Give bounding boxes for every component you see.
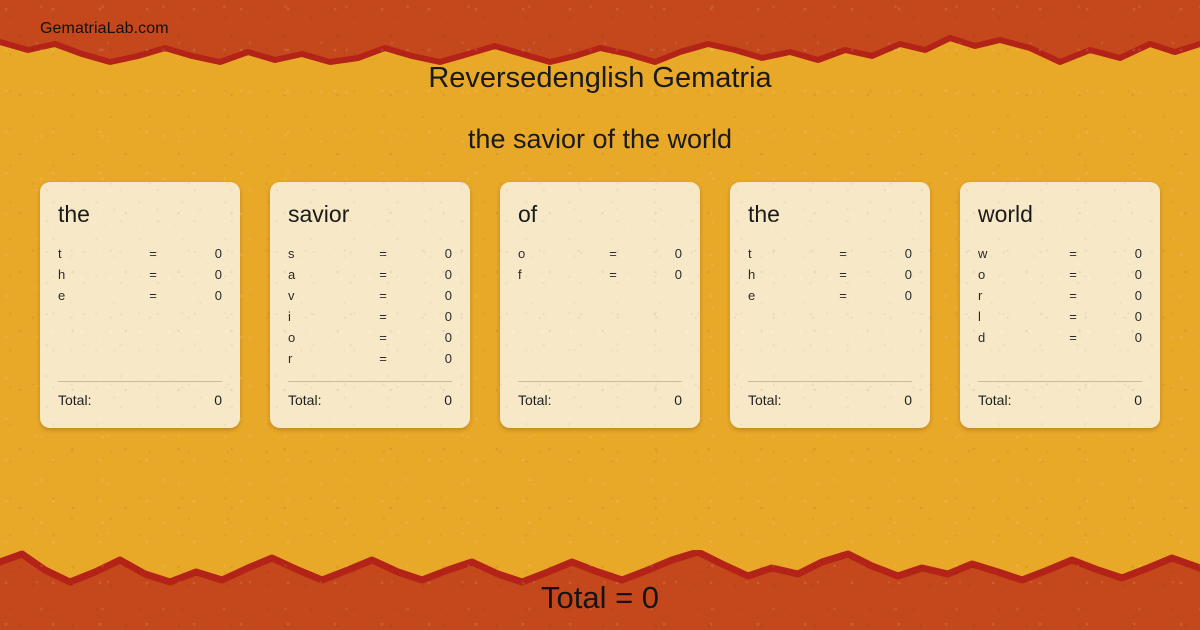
letter-rows: o=0f=0	[518, 246, 682, 288]
word-card: ofo=0f=0Total:0	[500, 182, 700, 428]
card-divider	[978, 381, 1142, 382]
letter-row: a=0	[288, 267, 452, 288]
letter-rows: t=0h=0e=0	[58, 246, 222, 309]
letter-label: r	[978, 288, 1060, 303]
equals-sign: =	[370, 267, 396, 282]
letter-row: f=0	[518, 267, 682, 288]
letter-value: 0	[1086, 330, 1142, 345]
equals-sign: =	[370, 309, 396, 324]
letter-value: 0	[626, 267, 682, 282]
equals-sign: =	[370, 330, 396, 345]
equals-sign: =	[830, 288, 856, 303]
letter-label: t	[58, 246, 140, 261]
card-total-value: 0	[674, 392, 682, 408]
card-divider	[288, 381, 452, 382]
card-total-value: 0	[214, 392, 222, 408]
word-card: worldw=0o=0r=0l=0d=0Total:0	[960, 182, 1160, 428]
letter-value: 0	[166, 246, 222, 261]
card-divider	[58, 381, 222, 382]
letter-label: h	[748, 267, 830, 282]
letter-label: s	[288, 246, 370, 261]
card-total-label: Total:	[978, 392, 1134, 408]
site-logo[interactable]: GematriaLab.com	[40, 20, 169, 38]
letter-value: 0	[856, 288, 912, 303]
letter-label: e	[748, 288, 830, 303]
card-word-title: the	[58, 200, 222, 234]
letter-rows: w=0o=0r=0l=0d=0	[978, 246, 1142, 351]
letter-value: 0	[166, 288, 222, 303]
letter-value: 0	[396, 309, 452, 324]
letter-value: 0	[396, 351, 452, 366]
card-total-row: Total:0	[748, 392, 912, 408]
card-divider	[518, 381, 682, 382]
letter-value: 0	[396, 330, 452, 345]
card-divider	[748, 381, 912, 382]
card-total-value: 0	[904, 392, 912, 408]
letter-value: 0	[396, 288, 452, 303]
card-word-title: world	[978, 200, 1142, 234]
equals-sign: =	[140, 267, 166, 282]
letter-label: e	[58, 288, 140, 303]
letter-value: 0	[1086, 267, 1142, 282]
letter-label: f	[518, 267, 600, 282]
word-card: thet=0h=0e=0Total:0	[40, 182, 240, 428]
letter-value: 0	[1086, 309, 1142, 324]
equals-sign: =	[1060, 267, 1086, 282]
letter-label: r	[288, 351, 370, 366]
card-total-value: 0	[1134, 392, 1142, 408]
letter-row: d=0	[978, 330, 1142, 351]
letter-row: t=0	[58, 246, 222, 267]
card-total-label: Total:	[58, 392, 214, 408]
letter-label: o	[288, 330, 370, 345]
card-total-row: Total:0	[288, 392, 452, 408]
letter-rows: s=0a=0v=0i=0o=0r=0	[288, 246, 452, 372]
letter-value: 0	[856, 267, 912, 282]
letter-rows: t=0h=0e=0	[748, 246, 912, 309]
equals-sign: =	[600, 267, 626, 282]
equals-sign: =	[600, 246, 626, 261]
equals-sign: =	[1060, 246, 1086, 261]
grand-total: Total = 0	[0, 580, 1200, 616]
letter-row: s=0	[288, 246, 452, 267]
letter-value: 0	[626, 246, 682, 261]
letter-label: o	[978, 267, 1060, 282]
letter-label: i	[288, 309, 370, 324]
letter-label: o	[518, 246, 600, 261]
letter-label: v	[288, 288, 370, 303]
letter-row: r=0	[978, 288, 1142, 309]
letter-value: 0	[1086, 246, 1142, 261]
letter-row: w=0	[978, 246, 1142, 267]
page-title: Reversedenglish Gematria	[0, 62, 1200, 95]
word-card-list: thet=0h=0e=0Total:0saviors=0a=0v=0i=0o=0…	[40, 182, 1160, 428]
equals-sign: =	[370, 351, 396, 366]
card-total-label: Total:	[288, 392, 444, 408]
equals-sign: =	[830, 267, 856, 282]
letter-row: i=0	[288, 309, 452, 330]
word-card: thet=0h=0e=0Total:0	[730, 182, 930, 428]
letter-value: 0	[166, 267, 222, 282]
letter-label: l	[978, 309, 1060, 324]
equals-sign: =	[1060, 309, 1086, 324]
equals-sign: =	[140, 288, 166, 303]
letter-row: e=0	[58, 288, 222, 309]
card-word-title: the	[748, 200, 912, 234]
letter-row: o=0	[288, 330, 452, 351]
card-total-row: Total:0	[58, 392, 222, 408]
letter-row: h=0	[748, 267, 912, 288]
equals-sign: =	[1060, 330, 1086, 345]
word-card: saviors=0a=0v=0i=0o=0r=0Total:0	[270, 182, 470, 428]
phrase-subtitle: the savior of the world	[0, 124, 1200, 155]
equals-sign: =	[370, 246, 396, 261]
letter-row: r=0	[288, 351, 452, 372]
letter-row: e=0	[748, 288, 912, 309]
card-total-value: 0	[444, 392, 452, 408]
card-total-label: Total:	[748, 392, 904, 408]
equals-sign: =	[140, 246, 166, 261]
letter-label: d	[978, 330, 1060, 345]
card-word-title: of	[518, 200, 682, 234]
letter-row: o=0	[518, 246, 682, 267]
letter-label: t	[748, 246, 830, 261]
letter-row: v=0	[288, 288, 452, 309]
letter-row: h=0	[58, 267, 222, 288]
card-total-label: Total:	[518, 392, 674, 408]
letter-value: 0	[396, 267, 452, 282]
letter-row: t=0	[748, 246, 912, 267]
letter-value: 0	[856, 246, 912, 261]
letter-value: 0	[396, 246, 452, 261]
letter-label: h	[58, 267, 140, 282]
letter-label: w	[978, 246, 1060, 261]
card-total-row: Total:0	[978, 392, 1142, 408]
letter-row: l=0	[978, 309, 1142, 330]
equals-sign: =	[830, 246, 856, 261]
letter-row: o=0	[978, 267, 1142, 288]
equals-sign: =	[1060, 288, 1086, 303]
gematria-card-image: GematriaLab.com Reversedenglish Gematria…	[0, 0, 1200, 630]
letter-label: a	[288, 267, 370, 282]
card-total-row: Total:0	[518, 392, 682, 408]
card-word-title: savior	[288, 200, 452, 234]
letter-value: 0	[1086, 288, 1142, 303]
equals-sign: =	[370, 288, 396, 303]
